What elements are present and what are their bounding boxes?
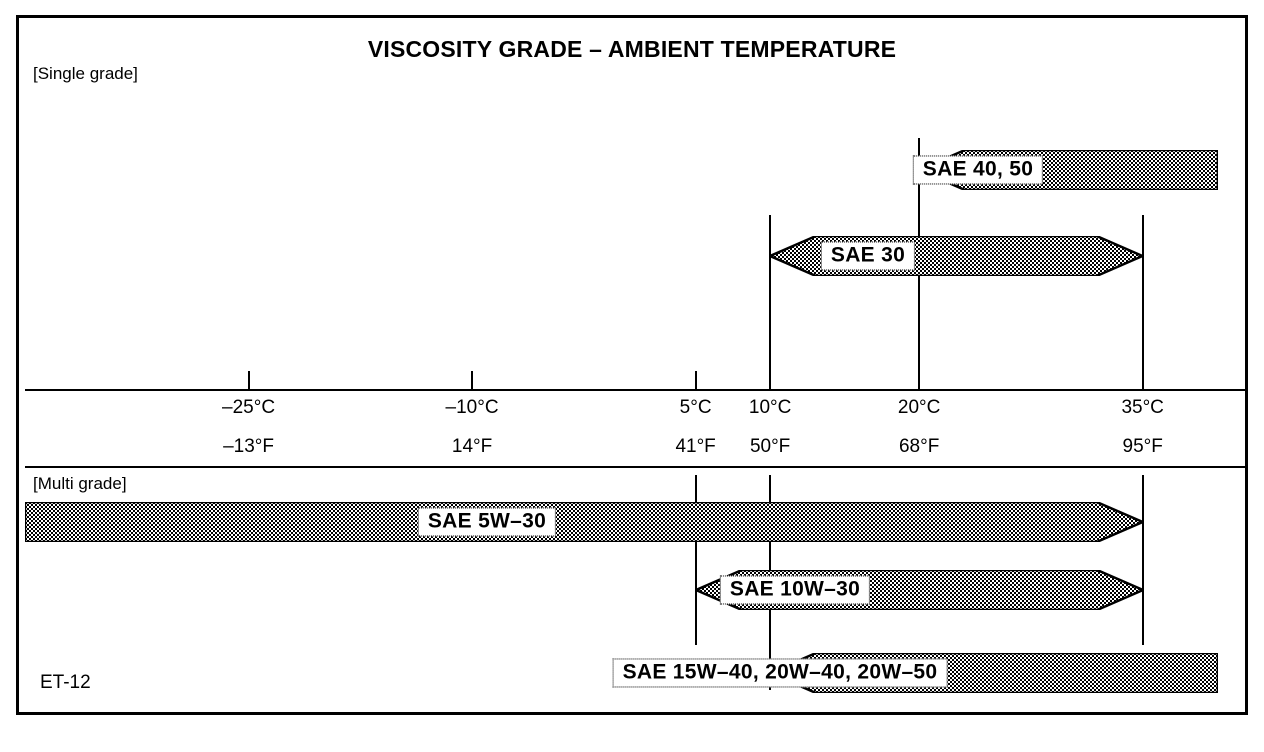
- tick-label-celsius--25: –25°C: [222, 397, 275, 419]
- temperature-axis-line: [25, 389, 1247, 391]
- footer-code: ET-12: [40, 672, 91, 694]
- page-title: VISCOSITY GRADE – AMBIENT TEMPERATURE: [0, 36, 1264, 63]
- axis-tick-5: [695, 371, 697, 389]
- bar-label: SAE 5W–30: [418, 507, 556, 536]
- tick-label-fahrenheit-50: 50°F: [750, 436, 790, 458]
- tick-label-celsius-10: 10°C: [749, 397, 791, 419]
- axis-tick--10: [471, 371, 473, 389]
- tick-label-celsius--10: –10°C: [446, 397, 499, 419]
- viscosity-bar: [25, 502, 1143, 542]
- bar-shape: [25, 502, 1143, 542]
- tick-label-celsius-35: 35°C: [1121, 397, 1163, 419]
- tick-label-fahrenheit-41: 41°F: [675, 436, 715, 458]
- bar-label: SAE 10W–30: [720, 575, 870, 604]
- gridline-5c: [695, 475, 697, 645]
- tick-label-celsius-5: 5°C: [680, 397, 712, 419]
- tick-label-fahrenheit-14: 14°F: [452, 436, 492, 458]
- tick-label-celsius-20: 20°C: [898, 397, 940, 419]
- multi-grade-caption: [Multi grade]: [33, 474, 127, 494]
- tick-label-fahrenheit--13: –13°F: [223, 436, 274, 458]
- tick-label-fahrenheit-95: 95°F: [1123, 436, 1163, 458]
- chart-frame: [16, 15, 1248, 715]
- bar-label: SAE 15W–40, 20W–40, 20W–50: [613, 658, 948, 687]
- chart-canvas: VISCOSITY GRADE – AMBIENT TEMPERATURE [S…: [0, 0, 1264, 752]
- section-divider-line: [25, 466, 1247, 468]
- gridline-35c-lower: [1142, 475, 1144, 645]
- bar-label: SAE 30: [821, 241, 915, 270]
- axis-tick--25: [248, 371, 250, 389]
- tick-label-fahrenheit-68: 68°F: [899, 436, 939, 458]
- single-grade-caption: [Single grade]: [33, 64, 138, 84]
- bar-label: SAE 40, 50: [913, 155, 1043, 184]
